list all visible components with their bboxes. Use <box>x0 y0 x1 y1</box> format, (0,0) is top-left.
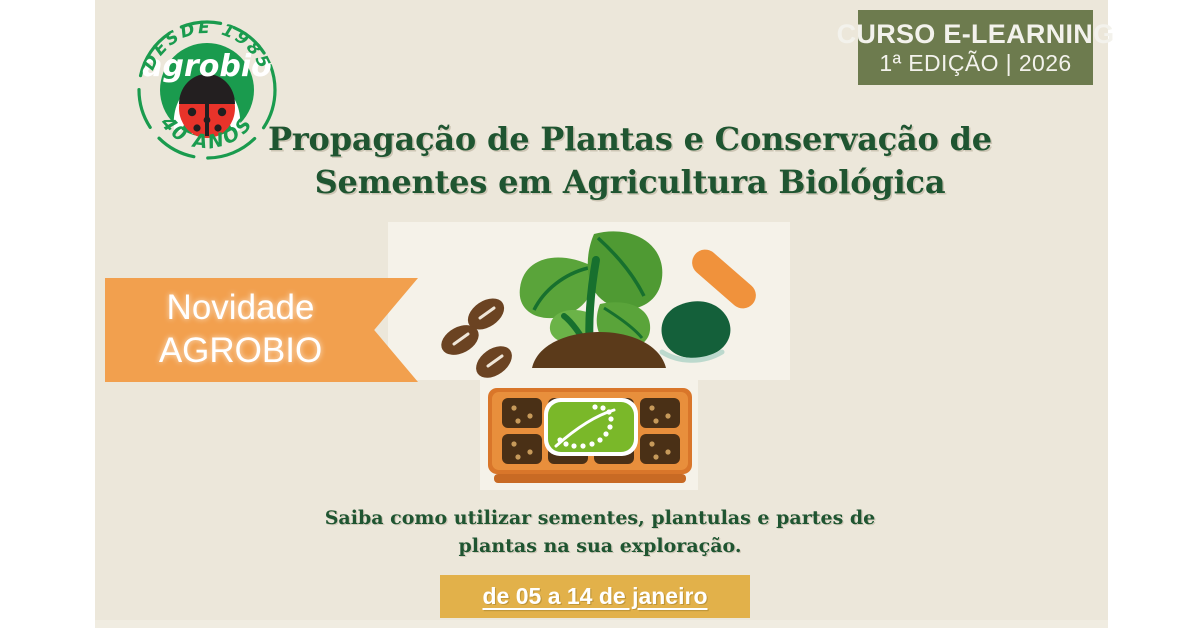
course-date-label: de 05 a 14 de janeiro <box>482 583 707 610</box>
poster-title: Propagação de Plantas e Conservação de S… <box>250 118 1010 203</box>
eu-organic-euro-leaf-icon <box>544 398 638 456</box>
ribbon-line2: AGROBIO <box>159 330 322 373</box>
course-badge-line2: 1ª EDIÇÃO | 2026 <box>879 51 1071 75</box>
seedling-with-seeds-and-trowel-icon <box>440 222 800 384</box>
poster-subtitle-line1: Saiba como utilizar sementes, plantulas … <box>300 505 900 533</box>
ribbon-line1: Novidade <box>167 287 315 330</box>
poster-canvas: agrobio DESDE 1985 40 ANOS CURSO E-LEARN… <box>95 0 1108 628</box>
poster-subtitle: Saiba como utilizar sementes, plantulas … <box>300 505 900 560</box>
canvas-footer-strip <box>95 620 1108 628</box>
novidade-ribbon: Novidade AGROBIO <box>105 278 418 382</box>
poster-subtitle-line2: plantas na sua exploração. <box>300 533 900 561</box>
promotional-poster: agrobio DESDE 1985 40 ANOS CURSO E-LEARN… <box>0 0 1200 628</box>
poster-title-line1: Propagação de Plantas e Conservação de <box>250 118 1010 161</box>
course-badge-line1: CURSO E-LEARNING <box>837 20 1115 48</box>
poster-title-line2: Sementes em Agricultura Biológica <box>250 161 1010 204</box>
seed-tray-icon <box>486 386 694 484</box>
course-date-button[interactable]: de 05 a 14 de janeiro <box>440 575 750 618</box>
course-badge: CURSO E-LEARNING 1ª EDIÇÃO | 2026 <box>858 10 1093 85</box>
